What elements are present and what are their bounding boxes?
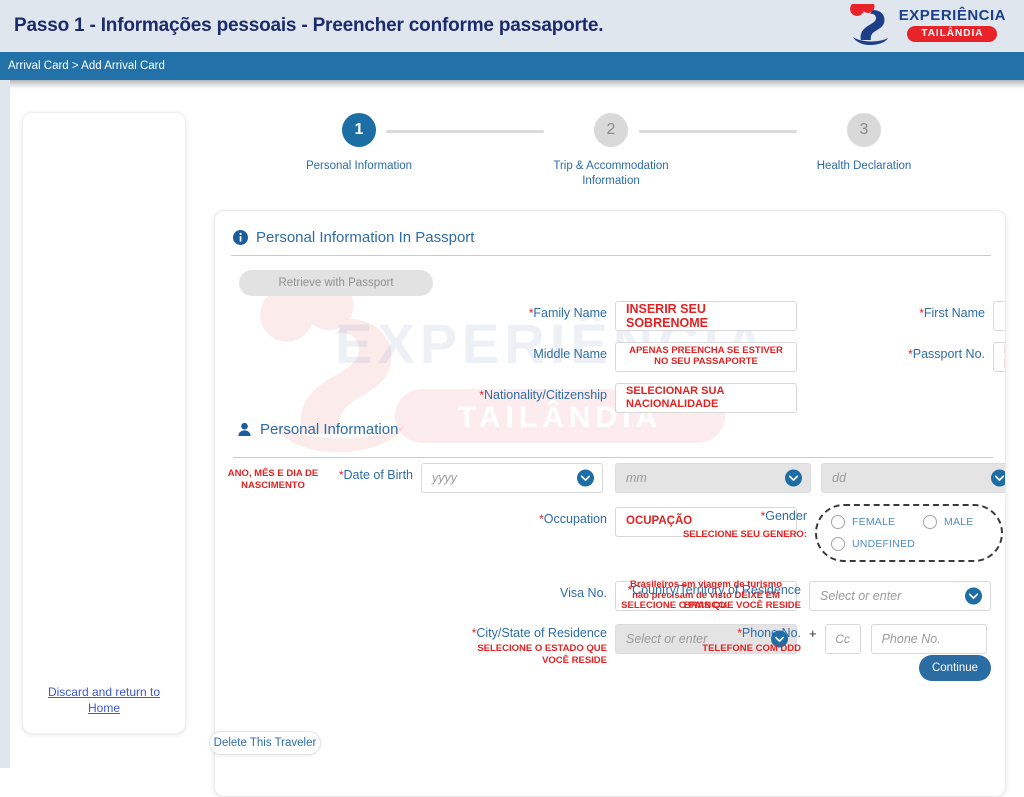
family-name-input[interactable]: INSERIR SEU SOBRENOME [615,301,797,331]
brand-pill: TAILÂNDIA [907,26,997,42]
gender-radio-group: FEMALE MALE UNDEFINED [815,504,1003,562]
radio-icon[interactable] [831,515,845,529]
chevron-down-icon[interactable] [965,588,982,605]
country-label-block: *Country/Territory of Residence SELECION… [613,578,801,612]
date-of-birth-day-select[interactable]: dd [821,463,1006,493]
first-name-label: *First Name [905,301,985,322]
delete-this-traveler-button[interactable]: Delete This Traveler [209,731,321,755]
gender-option-female-label: FEMALE [852,516,895,528]
step-3-label: Health Declaration [779,159,949,174]
date-of-birth-year-placeholder: yyyy [432,471,457,485]
phone-plus-sign: + [809,621,817,641]
stepper-step-health-declaration[interactable]: 3 Health Declaration [779,113,949,174]
field-row-passport-no: *Passport No. NÚMERO DO PASSAPORTE [885,342,1006,372]
field-row-country-of-residence: *Country/Territory of Residence SELECION… [613,578,991,612]
nationality-label: *Nationality/Citizenship [455,383,607,404]
passport-no-label: *Passport No. [885,342,985,363]
field-row-phone-no: *Phone No. TELEFONE COM DDD + Cc Phone N… [685,621,987,655]
brand-word: EXPERIÊNCIA [899,8,1006,23]
city-state-of-residence-note: SELECIONE O ESTADO QUE VOCÊ RESIDE [463,643,607,667]
date-of-birth-month-placeholder: mm [626,471,647,485]
step-1-circle: 1 [342,113,376,147]
page-left-edge [0,80,10,768]
person-icon [237,422,252,437]
field-row-family-name: *Family Name INSERIR SEU SOBRENOME [503,301,797,331]
gender-option-undefined-label: UNDEFINED [852,538,915,550]
passport-no-value: NÚMERO DO PASSAPORTE [1004,343,1006,372]
chevron-down-icon[interactable] [577,470,594,487]
middle-name-label: Middle Name [503,342,607,363]
radio-icon[interactable] [923,515,937,529]
breadcrumb-bar: Arrival Card > Add Arrival Card [0,52,1024,80]
gender-option-male[interactable]: MALE [923,515,973,529]
arrival-card-form: EXPERIÊNCIA TAILÂNDIA Personal Informati… [214,210,1006,797]
passport-section-heading: Personal Information In Passport [229,229,991,246]
date-of-birth-year-select[interactable]: yyyy [421,463,603,493]
page-body: Discard and return to Home 1 Personal In… [0,80,1024,768]
date-of-birth-label: *Date of Birth [331,463,413,484]
first-name-input[interactable]: INSERIR SEU NOME [993,301,1006,331]
occupation-label: *Occupation [505,507,607,528]
brand-logo: EXPERIÊNCIA TAILÂNDIA [849,4,1006,46]
field-row-first-name: *First Name INSERIR SEU NOME [905,301,1006,331]
phone-no-note: TELEFONE COM DDD [685,643,801,655]
personal-section-heading: Personal Information [233,421,398,438]
gender-note: SELECIONE SEU GENERO: [665,529,807,541]
passport-no-input[interactable]: NÚMERO DO PASSAPORTE [993,342,1006,372]
phone-country-code-placeholder: Cc [835,632,850,646]
annotation-title: Passo 1 - Informações pessoais - Preench… [14,15,603,37]
gender-option-male-label: MALE [944,516,973,528]
passport-section-rule [231,255,991,256]
date-of-birth-month-select[interactable]: mm [615,463,811,493]
stepper-step-personal-information[interactable]: 1 Personal Information [274,113,444,174]
personal-section-rule [233,457,993,458]
page-top-shadow [10,80,1024,89]
step-2-circle: 2 [594,113,628,147]
phone-country-code-input[interactable]: Cc [825,624,861,654]
city-state-label-block: *City/State of Residence SELECIONE O EST… [463,621,607,666]
field-row-date-of-birth: ANO, MÊS E DIA DE NASCIMENTO *Date of Bi… [219,463,1006,493]
discard-and-return-link[interactable]: Discard and return to Home [41,684,167,716]
phone-label-block: *Phone No. TELEFONE COM DDD [685,621,801,655]
radio-icon[interactable] [831,537,845,551]
phone-no-label: *Phone No. [685,621,801,642]
date-of-birth-note: ANO, MÊS E DIA DE NASCIMENTO [219,463,327,492]
country-of-residence-note: SELECIONE O PAIS QUE VOCÊ RESIDE [613,600,801,612]
family-name-label: *Family Name [503,301,607,322]
progress-stepper: 1 Personal Information 2 Trip & Accommod… [196,113,1016,189]
gender-option-female[interactable]: FEMALE [831,515,923,529]
step-2-label: Trip & Accommodation Information [526,159,696,189]
step-3-circle: 3 [847,113,881,147]
family-name-value: INSERIR SEU SOBRENOME [626,302,786,331]
personal-section-title: Personal Information [260,421,398,438]
breadcrumb[interactable]: Arrival Card > Add Arrival Card [8,60,165,72]
country-of-residence-select[interactable]: Select or enter [809,581,991,611]
gender-label-block: *Gender SELECIONE SEU GENERO: [665,504,807,541]
date-of-birth-day-placeholder: dd [832,471,846,485]
nationality-value: SELECIONAR SUA NACIONALIDADE [626,385,786,410]
experiencia-tailandia-mark-icon [849,4,893,46]
chevron-down-icon[interactable] [785,470,802,487]
field-row-nationality: *Nationality/Citizenship SELECIONAR SUA … [455,383,797,413]
phone-number-input[interactable]: Phone No. [871,624,987,654]
country-of-residence-placeholder: Select or enter [820,589,901,603]
stepper-step-trip-accommodation[interactable]: 2 Trip & Accommodation Information [526,113,696,189]
gender-label: *Gender [665,504,807,525]
phone-number-placeholder: Phone No. [882,632,941,646]
info-icon [233,230,248,245]
city-state-of-residence-label: *City/State of Residence [463,621,607,642]
field-row-gender: *Gender SELECIONE SEU GENERO: FEMALE MAL… [665,504,1003,562]
step-1-label: Personal Information [274,159,444,174]
annotation-header-bar: Passo 1 - Informações pessoais - Preench… [0,0,1024,52]
field-row-middle-name: Middle Name APENAS PREENCHA SE ESTIVER N… [503,342,797,372]
left-side-panel: Discard and return to Home [22,112,186,734]
continue-button[interactable]: Continue [919,655,991,681]
page-content: Discard and return to Home 1 Personal In… [10,89,1024,768]
country-of-residence-label: *Country/Territory of Residence [613,578,801,599]
visa-no-label: Visa No. [531,581,607,602]
passport-section-title: Personal Information In Passport [256,229,474,246]
gender-option-undefined[interactable]: UNDEFINED [831,537,915,551]
middle-name-input[interactable]: APENAS PREENCHA SE ESTIVER NO SEU PASSAP… [615,342,797,372]
retrieve-with-passport-button[interactable]: Retrieve with Passport [239,270,433,296]
chevron-down-icon[interactable] [991,470,1006,487]
nationality-input[interactable]: SELECIONAR SUA NACIONALIDADE [615,383,797,413]
middle-name-value: APENAS PREENCHA SE ESTIVER NO SEU PASSAP… [626,346,786,368]
